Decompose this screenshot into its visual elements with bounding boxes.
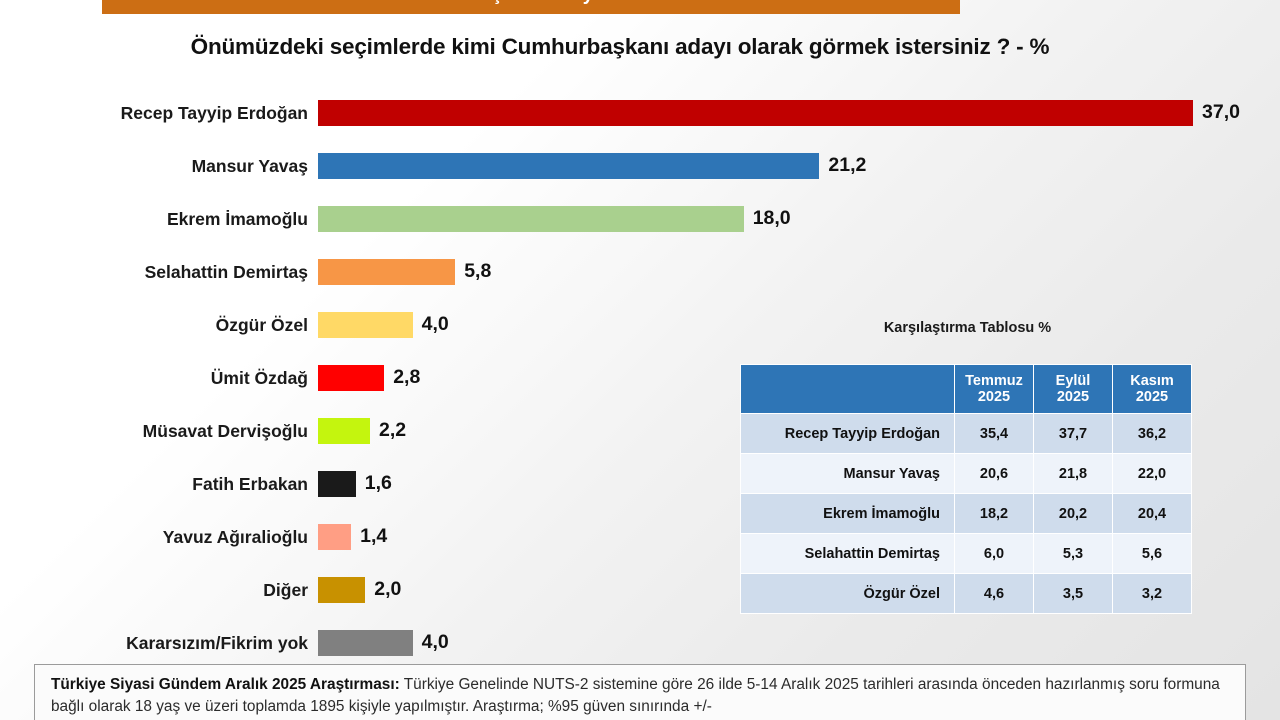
chart-row-label: Mansur Yavaş (0, 151, 308, 181)
chart-bar (318, 418, 370, 444)
chart-bar (318, 524, 351, 550)
table-body: Recep Tayyip Erdoğan35,437,736,2Mansur Y… (741, 414, 1192, 614)
comparison-table: Temmuz 2025 Eylül 2025 Kasım 2025 Recep … (740, 364, 1192, 614)
table-cell-name: Mansur Yavaş (741, 454, 955, 494)
chart-bar-wrap: 21,2 (318, 153, 866, 179)
chart-bar (318, 206, 744, 232)
chart-bar-wrap: 37,0 (318, 100, 1240, 126)
table-cell-value: 20,2 (1034, 494, 1113, 534)
chart-bar-wrap: 4,0 (318, 312, 449, 338)
chart-bar-value: 21,2 (828, 154, 866, 177)
chart-bar-value: 37,0 (1202, 101, 1240, 124)
chart-row: Ekrem İmamoğlu18,0 (0, 192, 1280, 245)
chart-bar-value: 4,0 (422, 313, 449, 336)
chart-row-label: Recep Tayyip Erdoğan (0, 98, 308, 128)
chart-bar (318, 577, 365, 603)
table-cell-value: 3,2 (1113, 574, 1192, 614)
header-banner: Cumhurbaşkanı Adayı Tercihi (102, 0, 960, 14)
chart-row: Recep Tayyip Erdoğan37,0 (0, 86, 1280, 139)
chart-row: Kararsızım/Fikrim yok4,0 (0, 616, 1280, 669)
chart-row-label: Müsavat Dervişoğlu (0, 416, 308, 446)
chart-bar-value: 2,2 (379, 419, 406, 442)
table-cell-value: 20,6 (955, 454, 1034, 494)
chart-bar-value: 1,4 (360, 525, 387, 548)
chart-bar (318, 153, 819, 179)
table-header-eylul: Eylül 2025 (1034, 365, 1113, 414)
chart-bar (318, 630, 413, 656)
chart-bar-wrap: 2,2 (318, 418, 406, 444)
methodology-note-lead: Türkiye Siyasi Gündem Aralık 2025 Araştı… (51, 676, 400, 693)
chart-bar-wrap: 2,0 (318, 577, 401, 603)
chart-bar-wrap: 1,4 (318, 524, 387, 550)
table-cell-name: Recep Tayyip Erdoğan (741, 414, 955, 454)
chart-row: Mansur Yavaş21,2 (0, 139, 1280, 192)
table-cell-value: 36,2 (1113, 414, 1192, 454)
table-cell-name: Selahattin Demirtaş (741, 534, 955, 574)
table-header-row: Temmuz 2025 Eylül 2025 Kasım 2025 (741, 365, 1192, 414)
table-cell-value: 5,6 (1113, 534, 1192, 574)
table-cell-value: 35,4 (955, 414, 1034, 454)
chart-row-label: Ekrem İmamoğlu (0, 204, 308, 234)
chart-bar (318, 100, 1193, 126)
table-header-kasim: Kasım 2025 (1113, 365, 1192, 414)
table-row: Selahattin Demirtaş6,05,35,6 (741, 534, 1192, 574)
table-row: Mansur Yavaş20,621,822,0 (741, 454, 1192, 494)
chart-bar (318, 312, 413, 338)
table-header-temmuz-month: Temmuz (955, 373, 1033, 389)
chart-bar (318, 471, 356, 497)
chart-bar-wrap: 1,6 (318, 471, 392, 497)
table-header-eylul-year: 2025 (1034, 389, 1112, 405)
table-cell-value: 20,4 (1113, 494, 1192, 534)
chart-row-label: Kararsızım/Fikrim yok (0, 628, 308, 658)
chart-row-label: Özgür Özel (0, 310, 308, 340)
chart-row-label: Ümit Özdağ (0, 363, 308, 393)
table-header-kasim-year: 2025 (1113, 389, 1191, 405)
chart-bar-wrap: 2,8 (318, 365, 420, 391)
chart-row-label: Fatih Erbakan (0, 469, 308, 499)
chart-bar-wrap: 5,8 (318, 259, 491, 285)
table-cell-value: 4,6 (955, 574, 1034, 614)
table-cell-name: Özgür Özel (741, 574, 955, 614)
comparison-table-caption: Karşılaştırma Tablosu % (740, 320, 1195, 336)
chart-bar (318, 365, 384, 391)
table-header: Temmuz 2025 Eylül 2025 Kasım 2025 (741, 365, 1192, 414)
table-cell-value: 3,5 (1034, 574, 1113, 614)
table-header-blank (741, 365, 955, 414)
table-row: Recep Tayyip Erdoğan35,437,736,2 (741, 414, 1192, 454)
page-title: Önümüzdeki seçimlerde kimi Cumhurbaşkanı… (0, 34, 1240, 60)
chart-bar-value: 1,6 (365, 472, 392, 495)
chart-bar-wrap: 4,0 (318, 630, 449, 656)
chart-bar-value: 2,8 (393, 366, 420, 389)
methodology-note: Türkiye Siyasi Gündem Aralık 2025 Araştı… (34, 664, 1246, 720)
table-cell-value: 37,7 (1034, 414, 1113, 454)
chart-bar-value: 5,8 (464, 260, 491, 283)
chart-bar-value: 18,0 (753, 207, 791, 230)
chart-bar-value: 4,0 (422, 631, 449, 654)
table-cell-value: 18,2 (955, 494, 1034, 534)
table-header-temmuz: Temmuz 2025 (955, 365, 1034, 414)
table-header-temmuz-year: 2025 (955, 389, 1033, 405)
chart-bar (318, 259, 455, 285)
table-header-kasim-month: Kasım (1113, 373, 1191, 389)
chart-row: Selahattin Demirtaş5,8 (0, 245, 1280, 298)
chart-row-label: Yavuz Ağıralioğlu (0, 522, 308, 552)
table-row: Ekrem İmamoğlu18,220,220,4 (741, 494, 1192, 534)
table-cell-value: 21,8 (1034, 454, 1113, 494)
table-cell-name: Ekrem İmamoğlu (741, 494, 955, 534)
chart-row-label: Selahattin Demirtaş (0, 257, 308, 287)
chart-bar-value: 2,0 (374, 578, 401, 601)
table-cell-value: 6,0 (955, 534, 1034, 574)
table-row: Özgür Özel4,63,53,2 (741, 574, 1192, 614)
chart-bar-wrap: 18,0 (318, 206, 791, 232)
table-header-eylul-month: Eylül (1034, 373, 1112, 389)
table-cell-value: 22,0 (1113, 454, 1192, 494)
table-cell-value: 5,3 (1034, 534, 1113, 574)
chart-row-label: Diğer (0, 575, 308, 605)
